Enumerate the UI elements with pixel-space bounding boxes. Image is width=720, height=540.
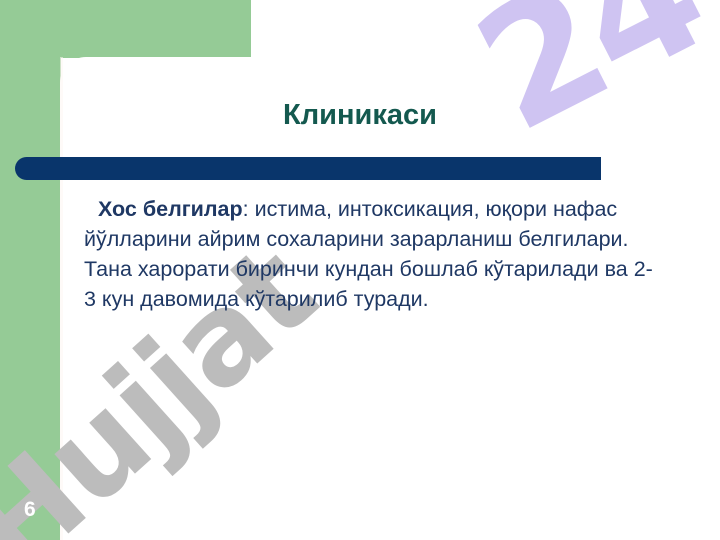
presentation-slide: 24 Hujjat Клиникаси Хос белгилар: истима… (0, 0, 720, 540)
page-number: 6 (24, 498, 36, 522)
title-divider-bar (15, 157, 601, 180)
left-accent-band (0, 0, 61, 540)
body-lead-label: Хос белгилар (98, 197, 243, 221)
page-title: Клиникаси (90, 100, 630, 132)
body-separator: : (243, 197, 255, 221)
panel-edge-highlight (60, 57, 63, 540)
top-accent-band (0, 0, 251, 58)
body-paragraph: Хос белгилар: истима, интоксикация, юқор… (84, 194, 656, 314)
